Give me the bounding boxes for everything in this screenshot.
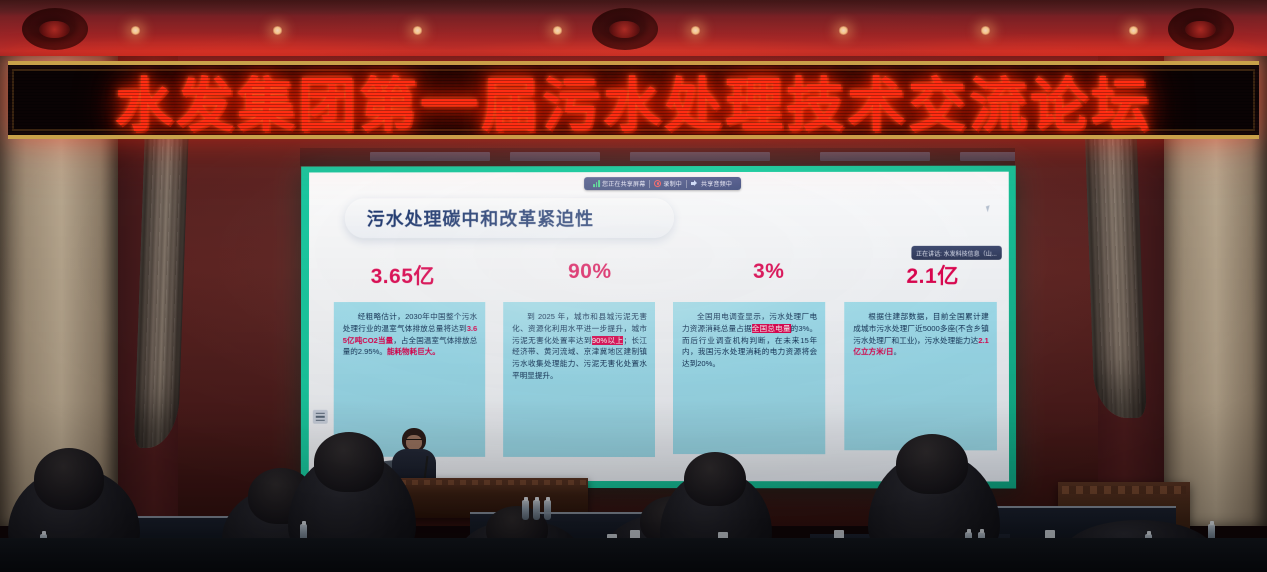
ceiling-downlight-8 (1128, 26, 1139, 35)
stat-value-1: 90% (568, 260, 611, 284)
ceiling-downlight-6 (838, 26, 849, 35)
conference-room-photo: 您正在共享屏幕 录制中 共享音频中 污水处理碳中和改革紧迫性 正在讲话 (0, 0, 1267, 572)
ceiling-downlight-5 (690, 26, 701, 35)
slide-card-2: 全国用电调查显示，污水处理厂电力资源消耗总量占据全国总电量的3%。而后行业调查机… (673, 302, 825, 454)
stat-value-2: 3% (753, 260, 784, 284)
ceiling-dome-light-2 (592, 8, 658, 50)
audio-share-status[interactable]: 共享音频中 (687, 179, 736, 188)
led-banner: 水发集团第一届污水处理技术交流论坛 (8, 61, 1259, 139)
sharing-label: 您正在共享屏幕 (602, 179, 645, 188)
ceiling-downlight-4 (552, 26, 563, 35)
ceiling-downlight-7 (980, 26, 991, 35)
slide-stat-row: 3.65亿 90% 3% 2.1亿 (329, 260, 1004, 294)
water-bottle-3 (522, 500, 529, 520)
record-dot-icon (654, 180, 661, 187)
ceiling (0, 0, 1267, 62)
stat-value-3: 2.1亿 (906, 260, 958, 290)
signal-bars-icon (593, 180, 600, 187)
audio-label: 共享音频中 (701, 179, 732, 188)
active-speaker-badge: 正在讲话: 水发科技信息（山... (911, 246, 1002, 260)
ceiling-downlight-2 (272, 26, 283, 35)
mouse-cursor-icon (986, 205, 992, 212)
recording-label: 录制中 (663, 179, 682, 188)
ceiling-downlight-1 (130, 26, 141, 35)
audience-head-6 (684, 452, 746, 506)
speaker-icon (691, 180, 699, 187)
water-bottle-5 (544, 500, 551, 520)
hamburger-menu-icon[interactable] (313, 410, 328, 424)
recording-status[interactable]: 录制中 (650, 179, 686, 188)
sharing-status: 您正在共享屏幕 (589, 179, 649, 188)
stat-value-0: 3.65亿 (371, 260, 435, 290)
audience-head-3 (314, 432, 384, 492)
projector-top-strip (300, 148, 1015, 166)
audience-head-1 (34, 448, 104, 510)
water-bottle-4 (533, 500, 540, 520)
screen-share-toolbar[interactable]: 您正在共享屏幕 录制中 共享音频中 (584, 177, 741, 190)
slide-title: 污水处理碳中和改革紧迫性 (345, 205, 594, 231)
active-speaker-label: 正在讲话: 水发科技信息（山... (916, 248, 997, 257)
slide-title-pill: 污水处理碳中和改革紧迫性 (345, 198, 674, 238)
slide-card-1: 到 2025 年，城市和县城污泥无害化、资源化利用水平进一步提升，城市污泥无害化… (503, 302, 655, 457)
led-banner-text: 水发集团第一届污水处理技术交流论坛 (115, 61, 1152, 139)
ceiling-downlight-3 (412, 26, 423, 35)
audience-head-7 (896, 434, 968, 494)
ceiling-dome-light-3 (1168, 8, 1234, 50)
ceiling-dome-light-1 (22, 8, 88, 50)
slide-card-3: 根据住建部数据，目前全国累计建成城市污水处理厂近5000多座(不含乡镇污水处理厂… (844, 302, 997, 450)
presenter-glasses (406, 439, 422, 443)
front-row-bench (0, 538, 1267, 572)
